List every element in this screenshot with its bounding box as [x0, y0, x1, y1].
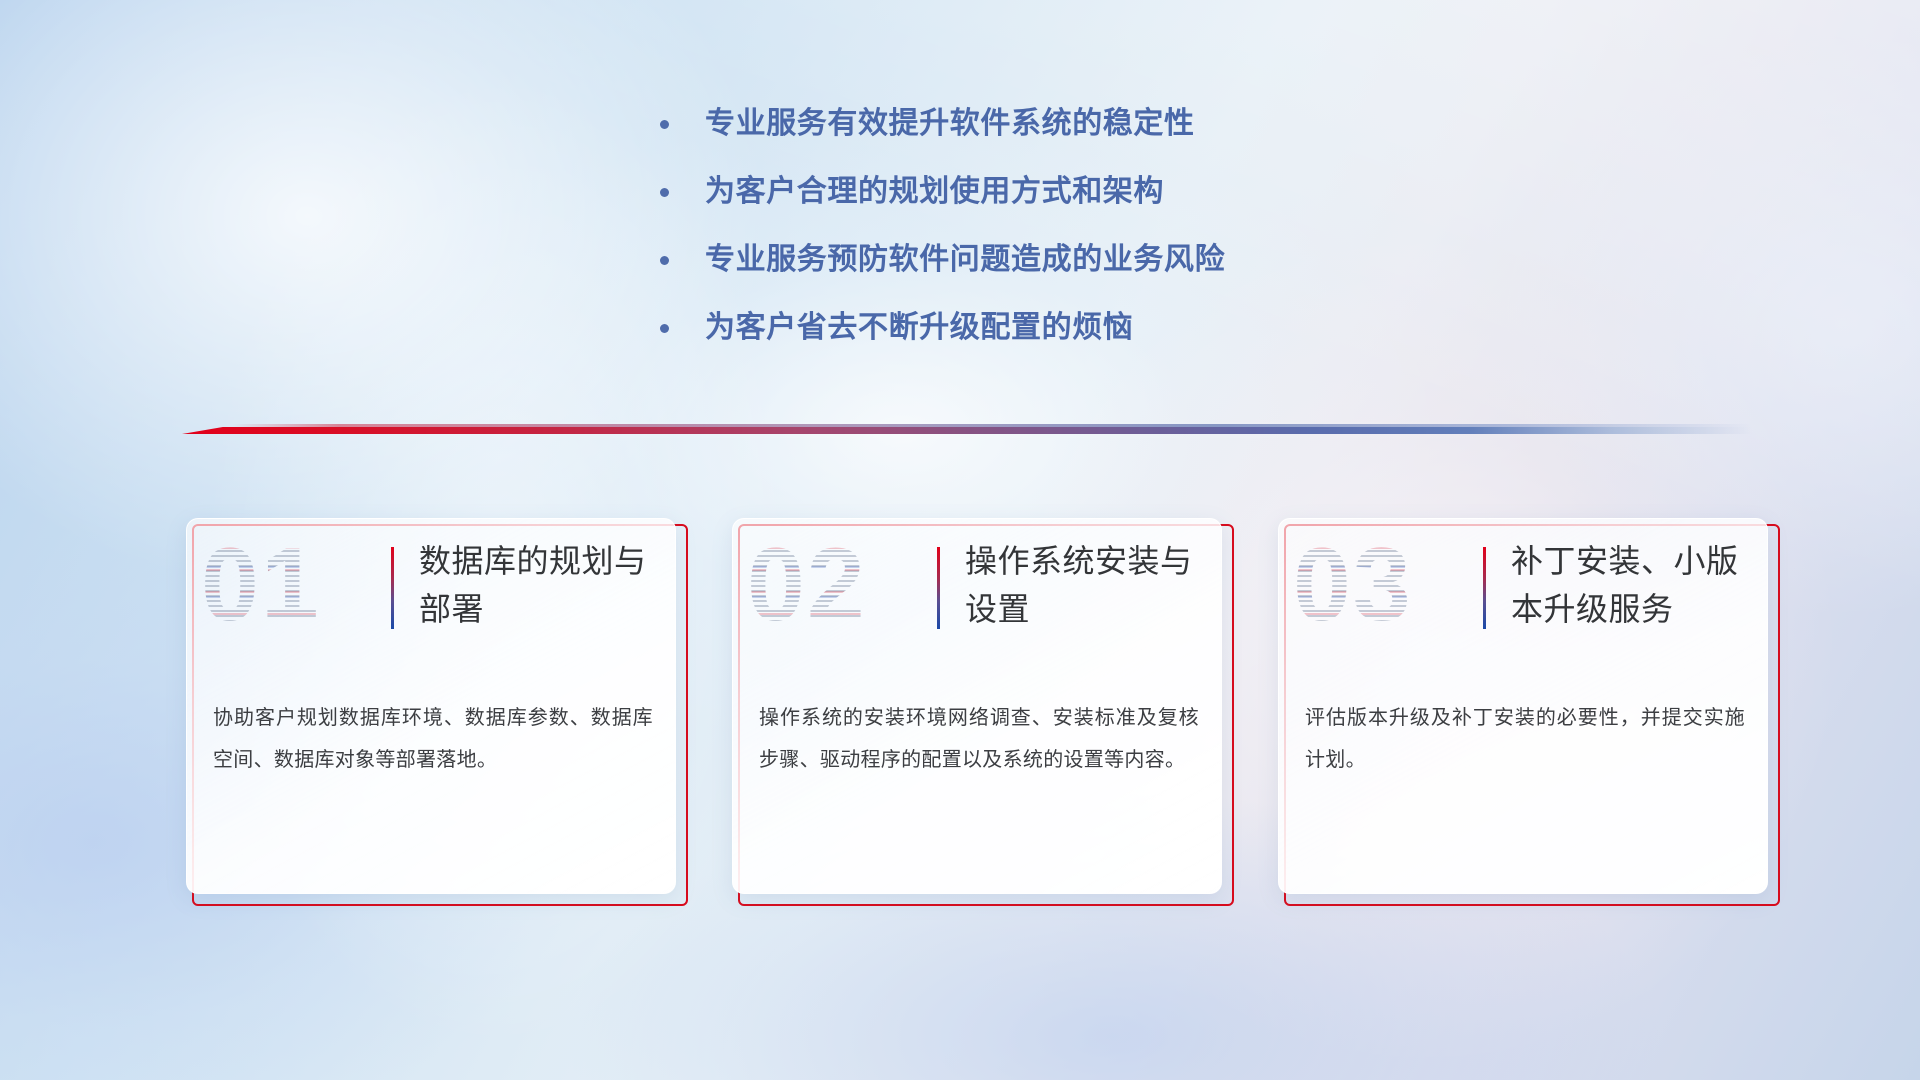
- divider-sheen: [182, 422, 1752, 438]
- card-surface: 02 02 02 操作系统安装与设置 操作系统的安装环境网络调查、安装标准及复核…: [732, 518, 1222, 894]
- card-number-watermark-blue: 03: [1293, 525, 1463, 645]
- card-surface: 03 03 03 补丁安装、小版本升级服务 评估版本升级及补丁安装的必要性，并提…: [1278, 518, 1768, 894]
- bullet-dot-icon: [660, 120, 669, 129]
- bullet-text: 专业服务预防软件问题造成的业务风险: [705, 240, 1225, 280]
- benefits-bullet-list: 专业服务有效提升软件系统的稳定性 为客户合理的规划使用方式和架构 专业服务预防软…: [660, 104, 1480, 376]
- card-title: 补丁安装、小版本升级服务: [1511, 537, 1751, 633]
- card-surface: 01 01 01 数据库的规划与部署 协助客户规划数据库环境、数据库参数、数据库…: [186, 518, 676, 894]
- card-title: 操作系统安装与设置: [965, 537, 1205, 633]
- bullet-text: 为客户省去不断升级配置的烦恼: [705, 308, 1133, 348]
- card-title: 数据库的规划与部署: [419, 537, 659, 633]
- card-description: 操作系统的安装环境网络调查、安装标准及复核步骤、驱动程序的配置以及系统的设置等内…: [759, 697, 1199, 781]
- list-item: 为客户合理的规划使用方式和架构: [660, 172, 1480, 212]
- card-description: 评估版本升级及补丁安装的必要性，并提交实施计划。: [1305, 697, 1745, 781]
- card-title-rule: [937, 547, 940, 629]
- service-card[interactable]: 02 02 02 操作系统安装与设置 操作系统的安装环境网络调查、安装标准及复核…: [732, 518, 1228, 900]
- bullet-dot-icon: [660, 188, 669, 197]
- bullet-dot-icon: [660, 324, 669, 333]
- service-card-row: 01 01 01 数据库的规划与部署 协助客户规划数据库环境、数据库参数、数据库…: [186, 518, 1774, 918]
- slide-canvas: 专业服务有效提升软件系统的稳定性 为客户合理的规划使用方式和架构 专业服务预防软…: [0, 0, 1920, 1080]
- card-description: 协助客户规划数据库环境、数据库参数、数据库空间、数据库对象等部署落地。: [213, 697, 653, 781]
- service-card[interactable]: 01 01 01 数据库的规划与部署 协助客户规划数据库环境、数据库参数、数据库…: [186, 518, 682, 900]
- bullet-text: 专业服务有效提升软件系统的稳定性: [705, 104, 1195, 144]
- section-divider: [182, 422, 1752, 438]
- card-title-rule: [1483, 547, 1486, 629]
- list-item: 为客户省去不断升级配置的烦恼: [660, 308, 1480, 348]
- bullet-text: 为客户合理的规划使用方式和架构: [705, 172, 1164, 212]
- card-number-watermark-blue: 02: [747, 525, 917, 645]
- list-item: 专业服务有效提升软件系统的稳定性: [660, 104, 1480, 144]
- card-title-rule: [391, 547, 394, 629]
- card-number-watermark-blue: 01: [201, 525, 371, 645]
- bullet-dot-icon: [660, 256, 669, 265]
- list-item: 专业服务预防软件问题造成的业务风险: [660, 240, 1480, 280]
- service-card[interactable]: 03 03 03 补丁安装、小版本升级服务 评估版本升级及补丁安装的必要性，并提…: [1278, 518, 1774, 900]
